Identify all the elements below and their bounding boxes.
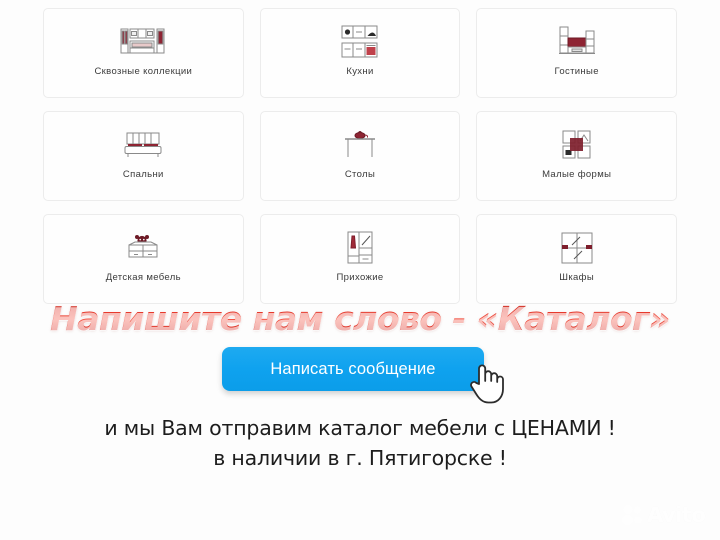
- category-card-small-forms[interactable]: Малые формы: [476, 111, 677, 201]
- promo-headline: Напишите нам слово - «Каталог»: [0, 299, 720, 338]
- table-icon: [342, 124, 378, 166]
- category-card-label: Кухни: [346, 67, 373, 77]
- category-card-hallway[interactable]: Прихожие: [260, 214, 461, 304]
- subcopy-line-1: и мы Вам отправим каталог мебели с ЦЕНАМ…: [0, 413, 720, 443]
- avito-watermark: Avito: [622, 503, 705, 527]
- avito-watermark-label: Avito: [647, 503, 705, 527]
- category-card-kitchen[interactable]: Кухни: [260, 8, 461, 98]
- living-room-icon: [556, 21, 598, 63]
- category-card-label: Столы: [345, 170, 375, 180]
- bed-icon: [122, 124, 164, 166]
- category-card-label: Малые формы: [542, 170, 611, 180]
- category-card-wall-unit[interactable]: Сквозные коллекции: [43, 8, 244, 98]
- wardrobe-icon: [560, 227, 594, 269]
- category-card-label: Шкафы: [559, 273, 594, 283]
- category-card-tables[interactable]: Столы: [260, 111, 461, 201]
- subcopy-line-2: в наличии в г. Пятигорске !: [0, 443, 720, 473]
- category-card-label: Сквозные коллекции: [94, 67, 192, 77]
- cta-button-wrapper: Написать сообщение: [222, 347, 484, 391]
- small-forms-icon: [560, 124, 594, 166]
- category-card-label: Спальни: [123, 170, 164, 180]
- wall-unit-icon: [120, 21, 166, 63]
- category-card-label: Гостиные: [554, 67, 598, 77]
- category-card-living-room[interactable]: Гостиные: [476, 8, 677, 98]
- promo-page: Сквозные коллекции: [0, 0, 720, 540]
- category-grid: Сквозные коллекции: [43, 8, 677, 304]
- promo-subcopy: и мы Вам отправим каталог мебели с ЦЕНАМ…: [0, 413, 720, 473]
- category-card-kids-furniture[interactable]: Детская мебель: [43, 214, 244, 304]
- hallway-icon: [344, 227, 376, 269]
- kitchen-icon: [341, 21, 379, 63]
- avito-dots-logo-icon: [622, 504, 644, 526]
- category-card-label: Детская мебель: [106, 273, 181, 283]
- category-card-wardrobe[interactable]: Шкафы: [476, 214, 677, 304]
- kids-furniture-icon: [123, 227, 163, 269]
- write-message-button[interactable]: Написать сообщение: [222, 347, 484, 391]
- category-card-bedroom[interactable]: Спальни: [43, 111, 244, 201]
- category-card-label: Прихожие: [337, 273, 384, 283]
